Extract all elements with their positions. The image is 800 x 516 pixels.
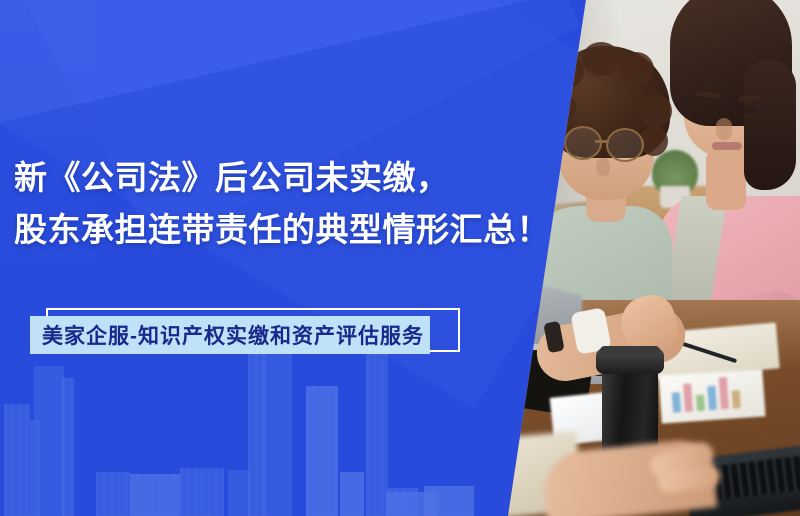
photo-coffee-cup-rim (600, 346, 660, 355)
skyline-building (180, 468, 224, 516)
photo-eyeglasses-left-lens (564, 126, 602, 160)
headline-line-2: 股东承担连带责任的典型情形汇总！ (14, 204, 514, 256)
city-skyline-silhouette (0, 336, 560, 516)
photo-hair-curl (640, 94, 672, 128)
photo-person-mouth (712, 142, 742, 150)
photo-hair-curl (582, 42, 620, 76)
skyline-building (306, 386, 338, 516)
photo-person2-nose (596, 158, 610, 176)
skyline-building (34, 366, 64, 516)
photo-person-nose (716, 118, 732, 140)
skyline-building (424, 486, 474, 516)
skyline-building (340, 472, 364, 516)
photo-person-hair-side (744, 60, 796, 190)
promo-banner: 新《公司法》后公司未实缴， 股东承担连带责任的典型情形汇总！ 美家企服-知识产权… (0, 0, 800, 516)
photo-hair-curl (618, 52, 654, 86)
headline-line-1: 新《公司法》后公司未实缴， (14, 152, 514, 204)
photo-person-eye-right (742, 106, 756, 113)
photo-eyeglasses-bridge (595, 140, 609, 143)
skyline-building (228, 470, 250, 516)
page-title: 新《公司法》后公司未实缴， 股东承担连带责任的典型情形汇总！ (14, 152, 514, 256)
skyline-building (62, 378, 74, 516)
photo-eyeglasses-right-lens (606, 128, 644, 162)
skyline-building (96, 472, 130, 516)
photo-person-eye-left (702, 104, 716, 111)
photo-hair-curl (640, 126, 668, 156)
skyline-building (130, 474, 180, 516)
skyline-building (4, 404, 30, 516)
skyline-building (366, 340, 388, 516)
subtitle-text: 美家企服-知识产权实缴和资产评估服务 (42, 316, 442, 354)
photo-person-neck (706, 150, 746, 210)
photo-chart-printout (658, 368, 765, 423)
subtitle-plaque: 美家企服-知识产权实缴和资产评估服务 (30, 300, 460, 362)
